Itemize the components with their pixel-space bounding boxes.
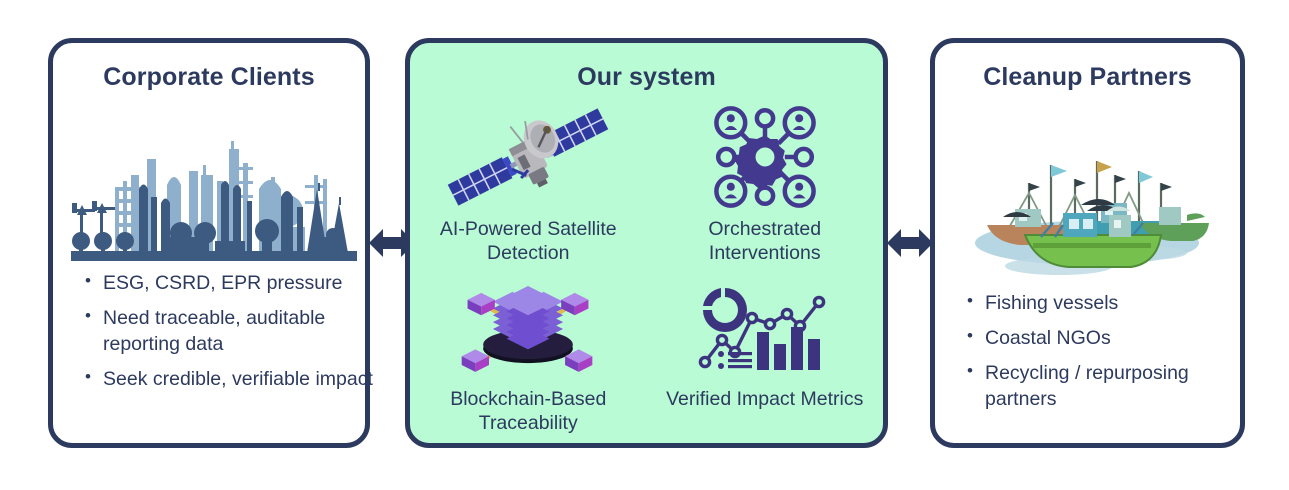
capability-verified-impact-metrics: Verified Impact Metrics [647,271,884,441]
capability-orchestrated-interventions: Orchestrated Interventions [647,101,884,271]
network-hub-icon [711,101,819,213]
corporate-clients-bullets: ESG, CSRD, EPR pressure Need traceable, … [63,271,399,402]
panel-our-system: Our system [405,38,888,448]
capability-satellite-detection: AI-Powered Satellite Detection [410,101,647,271]
cleanup-partners-bullets: Fishing vessels Coastal NGOs Recycling /… [945,291,1277,422]
fishing-boats-icon [963,131,1211,281]
panel-right-title: Cleanup Partners [935,63,1240,92]
capability-blockchain-traceability: Blockchain-Based Traceability [410,271,647,441]
system-capabilities-grid: AI-Powered Satellite Detection [410,101,883,441]
oil-refinery-icon [71,141,357,263]
list-item: Recycling / repurposing partners [967,361,1263,413]
panel-center-title: Our system [410,63,883,92]
list-item: Fishing vessels [967,291,1263,317]
capability-label: AI-Powered Satellite Detection [423,217,633,265]
list-item: Seek credible, verifiable impact [85,367,385,393]
capability-label: Verified Impact Metrics [666,387,863,411]
value-chain-diagram: Corporate Clients [0,0,1289,490]
panel-corporate-clients: Corporate Clients [48,38,370,448]
panel-left-title: Corporate Clients [53,63,365,92]
analytics-charts-icon [695,271,835,383]
list-item: Coastal NGOs [967,326,1263,352]
blockchain-database-icon [450,271,606,383]
double-headed-arrow-icon [887,229,933,257]
capability-label: Blockchain-Based Traceability [423,387,633,435]
capability-label: Orchestrated Interventions [660,217,870,265]
list-item: Need traceable, auditable reporting data [85,306,385,358]
satellite-icon [440,101,616,213]
panel-cleanup-partners: Cleanup Partners [930,38,1245,448]
arrow-center-right [886,221,934,265]
list-item: ESG, CSRD, EPR pressure [85,271,385,297]
